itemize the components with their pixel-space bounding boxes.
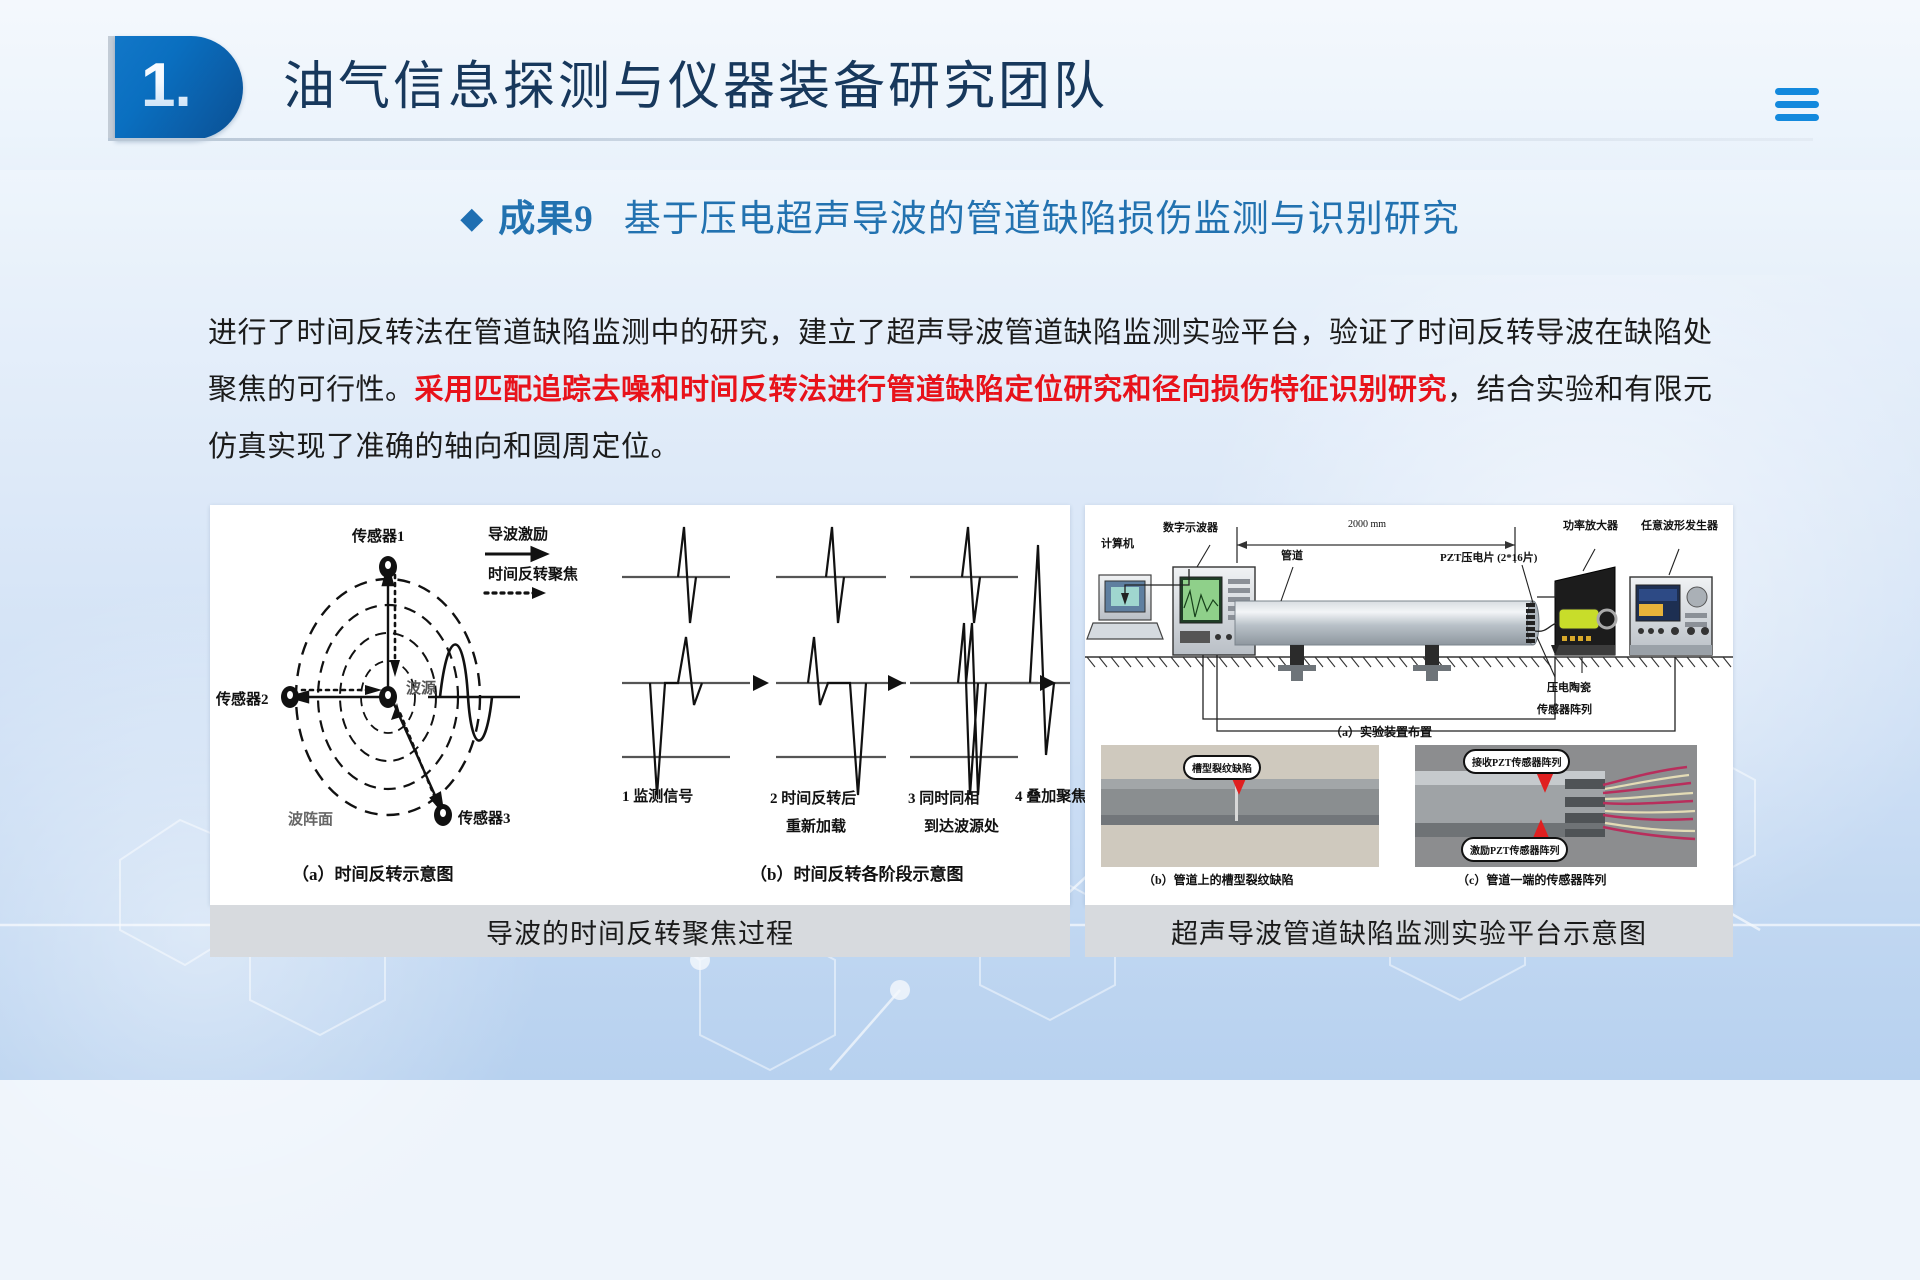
right-figure-b-caption: （b）管道上的槽型裂纹缺陷 [1143,871,1294,888]
left-panel-caption-text: 导波的时间反转聚焦过程 [486,912,794,951]
label-waveform-generator: 任意波形发生器 [1641,517,1718,533]
diamond-bullet-icon: ◆ [460,202,484,235]
body-highlight: 采用匹配追踪去噪和时间反转法进行管道缺陷定位研究和径向损伤特征识别研究 [415,374,1448,406]
subtitle-tag: 成果9 [498,199,594,240]
figure-a-caption: （a）时间反转示意图 [292,860,454,885]
legend-guided-wave-excitation: 导波激励 [488,523,548,544]
stage-4-line1: 叠加聚焦 [1026,789,1086,805]
legend-time-reversal-focusing: 时间反转聚焦 [488,563,578,584]
stage-2-line2: 重新加载 [786,819,846,835]
stage-3-line2: 到达波源处 [924,819,999,835]
power-amplifier-graphic [1555,567,1616,655]
right-panel-caption-text: 超声导波管道缺陷监测实验平台示意图 [1171,912,1647,951]
right-panel-caption-bar: 超声导波管道缺陷监测实验平台示意图 [1085,905,1733,957]
menu-bar-3 [1775,114,1819,121]
badge-left-stripe [108,36,115,140]
left-panel-caption-bar: 导波的时间反转聚焦过程 [210,905,1070,957]
stage-2-index: 2 [770,791,778,807]
waveform-generator-graphic [1630,577,1712,655]
header-divider [108,138,1813,141]
callout-crack-defect: 槽型裂纹缺陷 [1183,755,1261,780]
slide-header: 1. 油气信息探测与仪器装备研究团队 [0,0,1920,170]
section-subtitle: ◆成果9基于压电超声导波的管道缺陷损伤监测与识别研究 [0,188,1920,242]
label-pipe: 管道 [1281,547,1303,563]
figure-panel-left: 传感器1 传感器2 传感器3 波源 波阵面 导波激励 时间反转聚焦 （a）时间反… [210,505,1070,905]
menu-bar-1 [1775,88,1819,95]
stage-1-label: 1 监测信号 [622,785,693,806]
label-sensor-1: 传感器1 [352,525,405,546]
stage-4-label: 4 叠加聚焦 [1015,785,1086,806]
body-paragraph: 进行了时间反转法在管道缺陷监测中的研究，建立了超声导波管道缺陷监测实验平台，验证… [208,305,1718,476]
label-pzt-sensor-array-line1: 压电陶瓷 [1547,679,1591,695]
figure-b-caption: （b）时间反转各阶段示意图 [750,860,963,885]
label-computer: 计算机 [1101,535,1134,551]
label-sensor-2: 传感器2 [216,688,269,709]
label-oscilloscope: 数字示波器 [1163,519,1218,535]
stage-3-line1: 同时同相 [919,791,979,807]
badge-number-text: 1. [141,50,191,121]
stage-1-index: 1 [622,789,630,805]
right-figure-c-caption: （c）管道一端的传感器阵列 [1457,871,1606,888]
page-title: 油气信息探测与仪器装备研究团队 [283,44,1108,119]
subtitle-text: 基于压电超声导波的管道缺陷损伤监测与识别研究 [624,199,1460,240]
stage-3-label: 3 同时同相 到达波源处 [908,785,999,841]
pipe-graphic [1235,601,1539,681]
left-figure-graphic [210,505,1070,905]
label-pzt-sensor-array-line2: 传感器阵列 [1537,701,1592,717]
figure-panel-right: 计算机 数字示波器 管道 2000 mm PZT压电片 (2*16片) 功率放大… [1085,505,1733,905]
stage-2-line1: 时间反转后 [781,791,856,807]
stage-1-line1: 监测信号 [633,789,693,805]
hamburger-menu-icon[interactable] [1775,88,1819,122]
label-wavefront: 波阵面 [288,808,333,829]
label-pzt-patch: PZT压电片 (2*16片) [1440,549,1537,565]
right-figure-a-caption: （a）实验装置布置 [1330,723,1432,740]
label-sensor-3: 传感器3 [458,807,511,828]
label-wave-source: 波源 [406,677,436,698]
label-pipe-dimension: 2000 mm [1348,519,1386,530]
stage-3-index: 3 [908,791,916,807]
stage-4-index: 4 [1015,789,1023,805]
badge-shape: 1. [115,36,243,140]
section-number-badge: 1. [108,36,243,140]
menu-bar-2 [1775,101,1819,108]
callout-receive-pzt-array: 接收PZT传感器阵列 [1463,749,1570,774]
callout-excite-pzt-array: 激励PZT传感器阵列 [1461,837,1568,862]
label-power-amplifier: 功率放大器 [1563,517,1618,533]
stage-2-label: 2 时间反转后 重新加载 [770,785,856,841]
